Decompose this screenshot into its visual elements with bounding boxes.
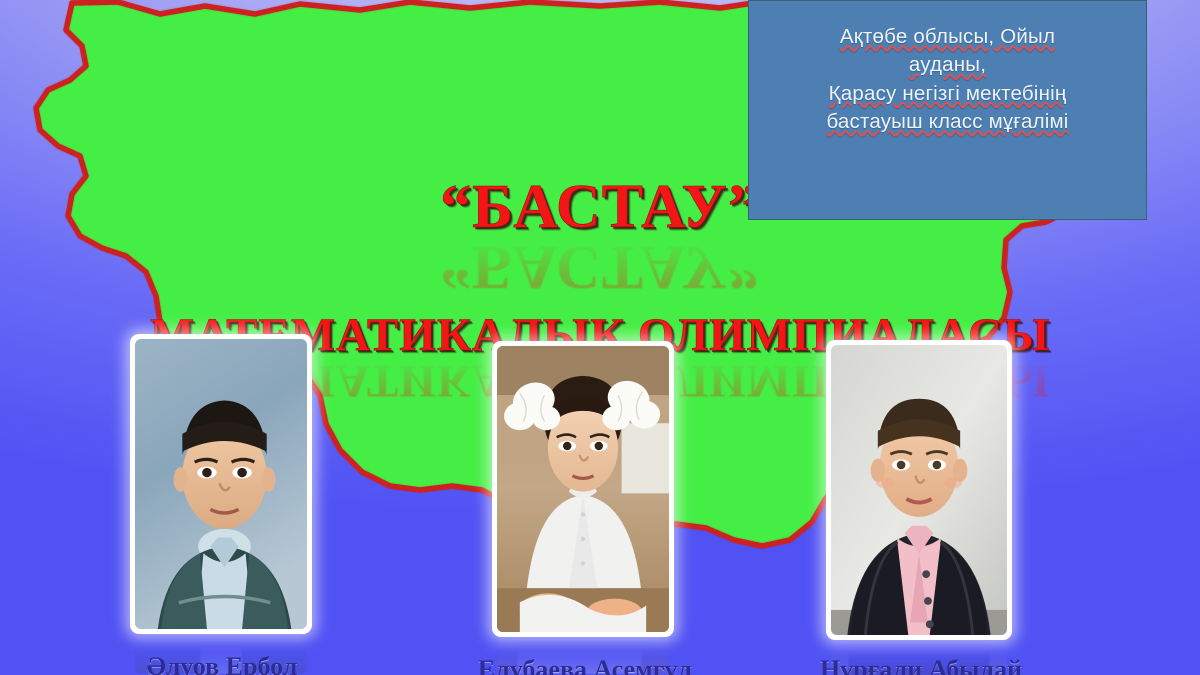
info-line-4: бастауыш класс мұғалімі [772,108,1124,136]
student-photo-1 [130,334,312,634]
student-photo-2 [492,341,674,637]
student-name-2: Елубаева Асемгүл [452,655,718,675]
presentation-slide: “БАСТАУ” “БАСТАУ” МАТЕМАТИКАЛЫҚ ОЛИМПИАД… [0,0,1200,675]
teacher-info-box: Ақтөбе облысы, Ойыл ауданы, Қарасу негіз… [748,0,1147,220]
student-name-1: Әлуов Ербол [92,652,352,675]
student-name-3: Нұрғали Абылай [786,655,1056,675]
info-line-1: Ақтөбе облысы, Ойыл [772,23,1124,51]
student-photo-3 [826,340,1012,640]
page-title-reflection: “БАСТАУ” [0,235,1200,298]
info-line-3: Қарасу негізгі мектебінің [772,80,1124,108]
info-line-2: ауданы, [772,51,1124,79]
